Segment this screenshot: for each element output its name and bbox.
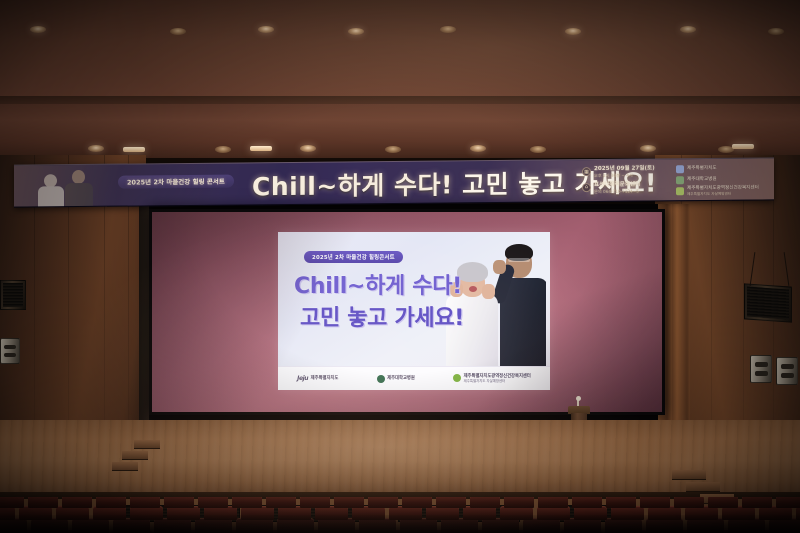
projection-screen: 2025년 2차 마을건강 힐링콘서트 Chill~하게 수다! 고민 놓고 가… <box>152 212 662 412</box>
audience-seat <box>130 497 160 508</box>
ceiling-downlight <box>768 28 784 35</box>
auditorium-scene: 2025년 2차 마을건강 힐링 콘서트 Chill~하게 수다! 고민 놓고 … <box>0 0 800 533</box>
slide-logo-label: 제주대학교병원 <box>387 376 415 381</box>
ceiling-strip-light <box>250 146 272 151</box>
slide-logo-emblem: Jeju <box>297 375 308 382</box>
audience-seat <box>538 497 568 508</box>
audience-seat <box>28 497 58 508</box>
ceiling-downlight <box>348 28 364 35</box>
sponsor-logo-label: 제주특별자치도 <box>687 166 717 172</box>
ceiling-downlight <box>88 145 104 152</box>
ceiling-downlight <box>470 145 486 152</box>
ceiling-downlight <box>440 26 456 33</box>
banner-info-row: ⌂표선다목적문화센터 문의 064-710-7124~5 <box>582 181 672 196</box>
banner-info-row: ▦2025년 09월 27일(토) 오후 2시 30분 ~ 4시 <box>582 165 672 180</box>
audience-seat <box>776 497 800 508</box>
slide-logo-label: 제주특별자치도 <box>311 376 339 381</box>
stage-monitor-speaker-right-b <box>776 357 798 385</box>
sponsor-logo-label: 제주대학교병원 <box>687 177 717 183</box>
ceiling-downlight <box>170 28 186 35</box>
audience-seat <box>436 497 466 508</box>
stage-deck <box>0 420 800 498</box>
banner-badge: 2025년 2차 마을건강 힐링 콘서트 <box>118 175 234 189</box>
audience-seat <box>708 497 738 508</box>
audience-seat <box>402 497 432 508</box>
audience-seat <box>742 497 772 508</box>
slide-badge: 2025년 2차 마을건강 힐링콘서트 <box>304 251 403 263</box>
slide-logo-label: 제주특별자치도광역정신건강복지센터제주특별자치도 자살예방센터 <box>464 374 531 383</box>
audience-seat <box>334 497 364 508</box>
ceiling-downlight <box>215 146 231 153</box>
audience-seat <box>504 497 534 508</box>
event-banner: 2025년 2차 마을건강 힐링 콘서트 Chill~하게 수다! 고민 놓고 … <box>14 157 774 207</box>
slide-headline-2: 고민 놓고 가세요! <box>300 300 464 332</box>
ceiling-downlight <box>30 26 46 33</box>
slide-logo-mark <box>377 375 385 383</box>
slide-sponsor-logos: Jeju제주특별자치도제주대학교병원제주특별자치도광역정신건강복지센터제주특별자… <box>278 366 550 390</box>
ceiling-strip-light <box>732 144 754 149</box>
ceiling-downlight <box>530 146 546 153</box>
banner-info-block: ▦2025년 09월 27일(토) 오후 2시 30분 ~ 4시⌂표선다목적문화… <box>582 165 672 198</box>
ceiling-downlight <box>680 26 696 33</box>
slide-logo-mark <box>453 374 461 382</box>
banner-info-text: 2025년 09월 27일(토) 오후 2시 30분 ~ 4시 <box>594 165 655 180</box>
audience-seat <box>470 497 500 508</box>
stage-monitor-speaker-left <box>0 338 20 364</box>
calendar-icon: ▦ <box>582 167 591 176</box>
banner-logo-item: 제주대학교병원 <box>676 175 770 184</box>
audience-seat <box>674 497 704 508</box>
ceiling-downlight <box>640 145 656 152</box>
audience-seat <box>368 497 398 508</box>
audience-seating <box>0 497 800 533</box>
ceiling-upper-surface <box>0 0 800 100</box>
banner-info-text: 표선다목적문화센터 문의 064-710-7124~5 <box>594 182 640 196</box>
audience-seat <box>232 497 262 508</box>
line-array-speaker-left <box>0 280 26 310</box>
line-array-speaker-right <box>744 283 792 322</box>
audience-seat <box>300 497 330 508</box>
audience-seat <box>0 497 24 508</box>
audience-seat <box>62 497 92 508</box>
presentation-slide: 2025년 2차 마을건강 힐링콘서트 Chill~하게 수다! 고민 놓고 가… <box>278 232 550 390</box>
ceiling-downlight <box>258 26 274 33</box>
slide-logo-item: 제주대학교병원 <box>377 375 415 383</box>
audience-seat <box>572 497 602 508</box>
sponsor-logo-mark <box>676 165 684 173</box>
banner-sponsor-logos: 제주특별자치도제주대학교병원제주특별자치도광역정신건강복지센터제주특별자치도 자… <box>676 164 770 198</box>
slide-logo-item: 제주특별자치도광역정신건강복지센터제주특별자치도 자살예방센터 <box>453 374 531 383</box>
stage-monitor-speaker-right-a <box>750 355 772 383</box>
banner-logo-item: 제주특별자치도 <box>676 164 770 173</box>
sponsor-logo-label: 제주특별자치도광역정신건강복지센터제주특별자치도 자살예방센터 <box>687 185 759 196</box>
projection-screen-frame: 2025년 2차 마을건강 힐링콘서트 Chill~하게 수다! 고민 놓고 가… <box>149 209 665 415</box>
ceiling-downlight <box>300 145 316 152</box>
banner-logo-item: 제주특별자치도광역정신건강복지센터제주특별자치도 자살예방센터 <box>676 185 770 196</box>
sponsor-logo-mark <box>676 176 684 184</box>
ceiling-downlight <box>565 28 581 35</box>
slide-logo-item: Jeju제주특별자치도 <box>297 375 338 382</box>
audience-seat <box>640 497 670 508</box>
banner-headline-part1: Chill~하게 수다! <box>252 170 453 201</box>
ceiling-downlight <box>385 146 401 153</box>
audience-seat <box>198 497 228 508</box>
audience-seat <box>164 497 194 508</box>
sponsor-logo-mark <box>676 187 684 195</box>
audience-seat <box>266 497 296 508</box>
ceiling-strip-light <box>123 147 145 152</box>
audience-seat <box>96 497 126 508</box>
audience-seat <box>606 497 636 508</box>
banner-photo-people <box>32 165 108 208</box>
slide-headline-1: Chill~하게 수다! <box>294 268 462 300</box>
location-icon: ⌂ <box>582 183 591 192</box>
